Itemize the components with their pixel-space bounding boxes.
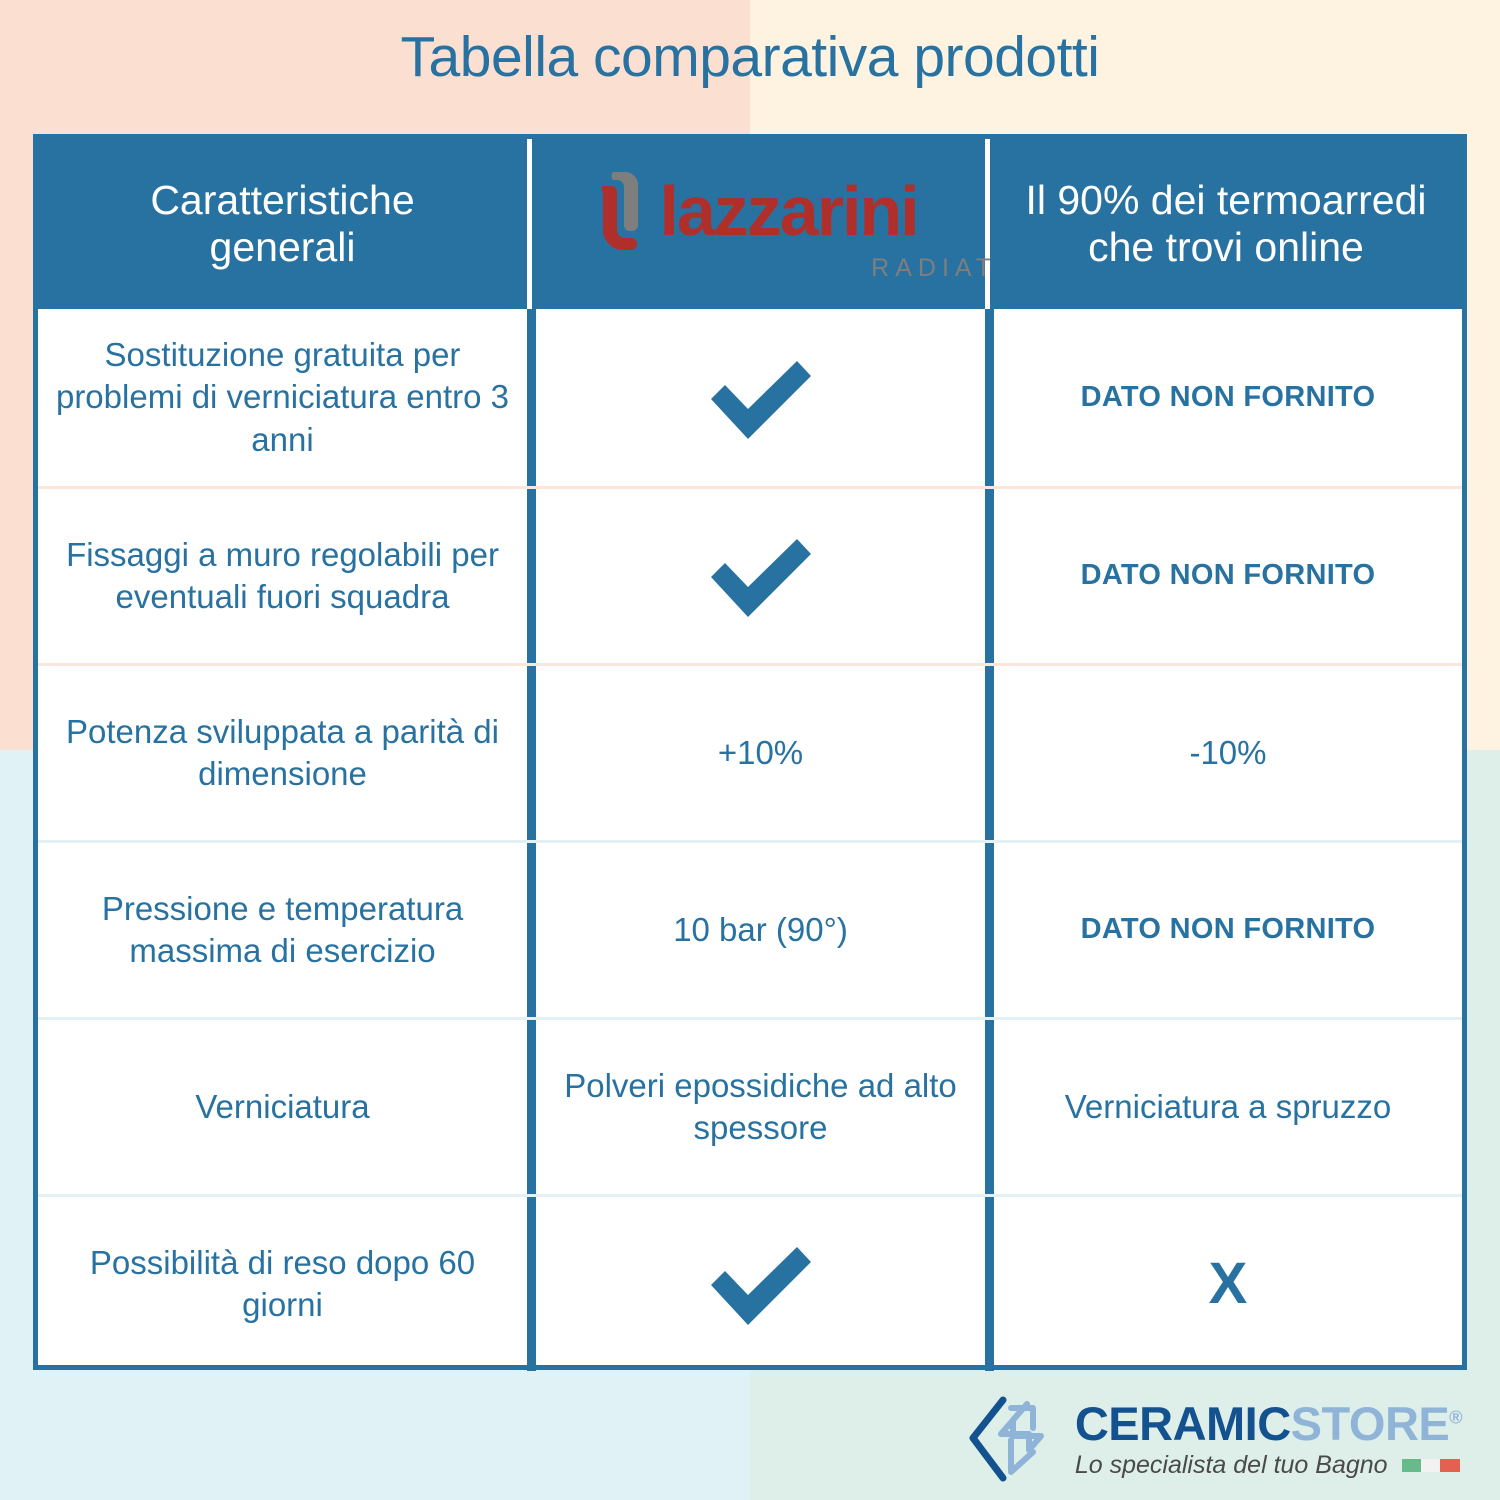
feature-label: Verniciatura: [195, 1086, 369, 1128]
competitor-value-cell-text: -10%: [1189, 732, 1266, 774]
competitor-value-cell-text: Verniciatura a spruzzo: [1065, 1086, 1392, 1128]
lazzarini-value-cell-text: +10%: [718, 732, 803, 774]
lazzarini-value-cell-text: 10 bar (90°): [673, 909, 848, 951]
feature-label: Fissaggi a muro regolabili per eventuali…: [52, 534, 513, 618]
ceramicstore-tagline: Lo specialista del tuo Bagno: [1075, 1451, 1388, 1480]
feature-cell: Verniciatura: [38, 1020, 532, 1194]
ceramicstore-word-store: STORE: [1291, 1397, 1450, 1450]
lazzarini-value-cell: 10 bar (90°): [532, 843, 990, 1017]
competitor-value-cell-text: DATO NON FORNITO: [1081, 557, 1376, 594]
table-row: Sostituzione gratuita per problemi di ve…: [38, 309, 1462, 486]
lazzarini-lockup: lazzarini: [599, 166, 917, 258]
feature-label: Potenza sviluppata a parità di dimension…: [52, 711, 513, 795]
competitor-value-cell: DATO NON FORNITO: [990, 843, 1462, 1017]
italian-flag-icon: [1402, 1459, 1460, 1472]
table-row: Potenza sviluppata a parità di dimension…: [38, 663, 1462, 840]
lazzarini-value-cell-text: Polveri epossidiche ad alto spessore: [550, 1065, 971, 1149]
competitor-value-cell: -10%: [990, 666, 1462, 840]
lazzarini-value-cell: [532, 489, 990, 663]
feature-cell: Fissaggi a muro regolabili per eventuali…: [38, 489, 532, 663]
feature-cell: Potenza sviluppata a parità di dimension…: [38, 666, 532, 840]
table-row: Possibilità di reso dopo 60 giorniX: [38, 1194, 1462, 1371]
ceramicstore-mark-icon: [967, 1394, 1059, 1486]
column-header-features: Caratteristichegenerali: [38, 139, 532, 309]
table-header-row: Caratteristichegenerali lazzarini RADIAT…: [38, 139, 1462, 309]
table-row: Pressione e temperatura massima di eserc…: [38, 840, 1462, 1017]
ceramicstore-logo[interactable]: CERAMICSTORE® Lo specialista del tuo Bag…: [967, 1394, 1462, 1486]
column-header-competitor-label: Il 90% dei termoarrediche trovi online: [1025, 177, 1426, 271]
column-header-features-label: Caratteristichegenerali: [150, 177, 414, 271]
column-header-lazzarini: lazzarini RADIATORI: [532, 139, 990, 309]
table-body: Sostituzione gratuita per problemi di ve…: [38, 309, 1462, 1371]
ceramicstore-word-ceramic: CERAMIC: [1075, 1397, 1291, 1450]
competitor-value-cell-text: DATO NON FORNITO: [1081, 379, 1376, 416]
feature-label: Possibilità di reso dopo 60 giorni: [52, 1242, 513, 1326]
lazzarini-wordmark: lazzarini: [659, 178, 917, 245]
check-icon: [701, 355, 821, 441]
ceramicstore-wordmark: CERAMICSTORE®: [1075, 1400, 1462, 1447]
feature-label: Pressione e temperatura massima di eserc…: [52, 888, 513, 972]
feature-cell: Sostituzione gratuita per problemi di ve…: [38, 309, 532, 486]
competitor-value-cell-text: DATO NON FORNITO: [1081, 911, 1376, 948]
feature-label: Sostituzione gratuita per problemi di ve…: [52, 334, 513, 461]
lazzarini-value-cell: [532, 1197, 990, 1371]
ceramicstore-tagline-row: Lo specialista del tuo Bagno: [1075, 1451, 1462, 1480]
x-mark-icon: X: [1209, 1255, 1248, 1313]
competitor-value-cell: X: [990, 1197, 1462, 1371]
competitor-value-cell: DATO NON FORNITO: [990, 309, 1462, 486]
lazzarini-logo: lazzarini RADIATORI: [546, 166, 971, 283]
lazzarini-mark-icon: [599, 166, 645, 258]
page-title: Tabella comparativa prodotti: [0, 26, 1500, 89]
lazzarini-value-cell: +10%: [532, 666, 990, 840]
feature-cell: Pressione e temperatura massima di eserc…: [38, 843, 532, 1017]
check-icon: [701, 533, 821, 619]
lazzarini-value-cell: [532, 309, 990, 486]
competitor-value-cell: Verniciatura a spruzzo: [990, 1020, 1462, 1194]
ceramicstore-text-block: CERAMICSTORE® Lo specialista del tuo Bag…: [1075, 1400, 1462, 1480]
table-row: Fissaggi a muro regolabili per eventuali…: [38, 486, 1462, 663]
competitor-value-cell: DATO NON FORNITO: [990, 489, 1462, 663]
column-header-competitor: Il 90% dei termoarrediche trovi online: [990, 139, 1462, 309]
feature-cell: Possibilità di reso dopo 60 giorni: [38, 1197, 532, 1371]
comparison-infographic: Tabella comparativa prodotti Caratterist…: [0, 0, 1500, 1500]
table-row: VerniciaturaPolveri epossidiche ad alto …: [38, 1017, 1462, 1194]
check-icon: [701, 1241, 821, 1327]
comparison-table: Caratteristichegenerali lazzarini RADIAT…: [33, 134, 1467, 1370]
lazzarini-value-cell: Polveri epossidiche ad alto spessore: [532, 1020, 990, 1194]
registered-trademark-icon: ®: [1449, 1407, 1462, 1427]
